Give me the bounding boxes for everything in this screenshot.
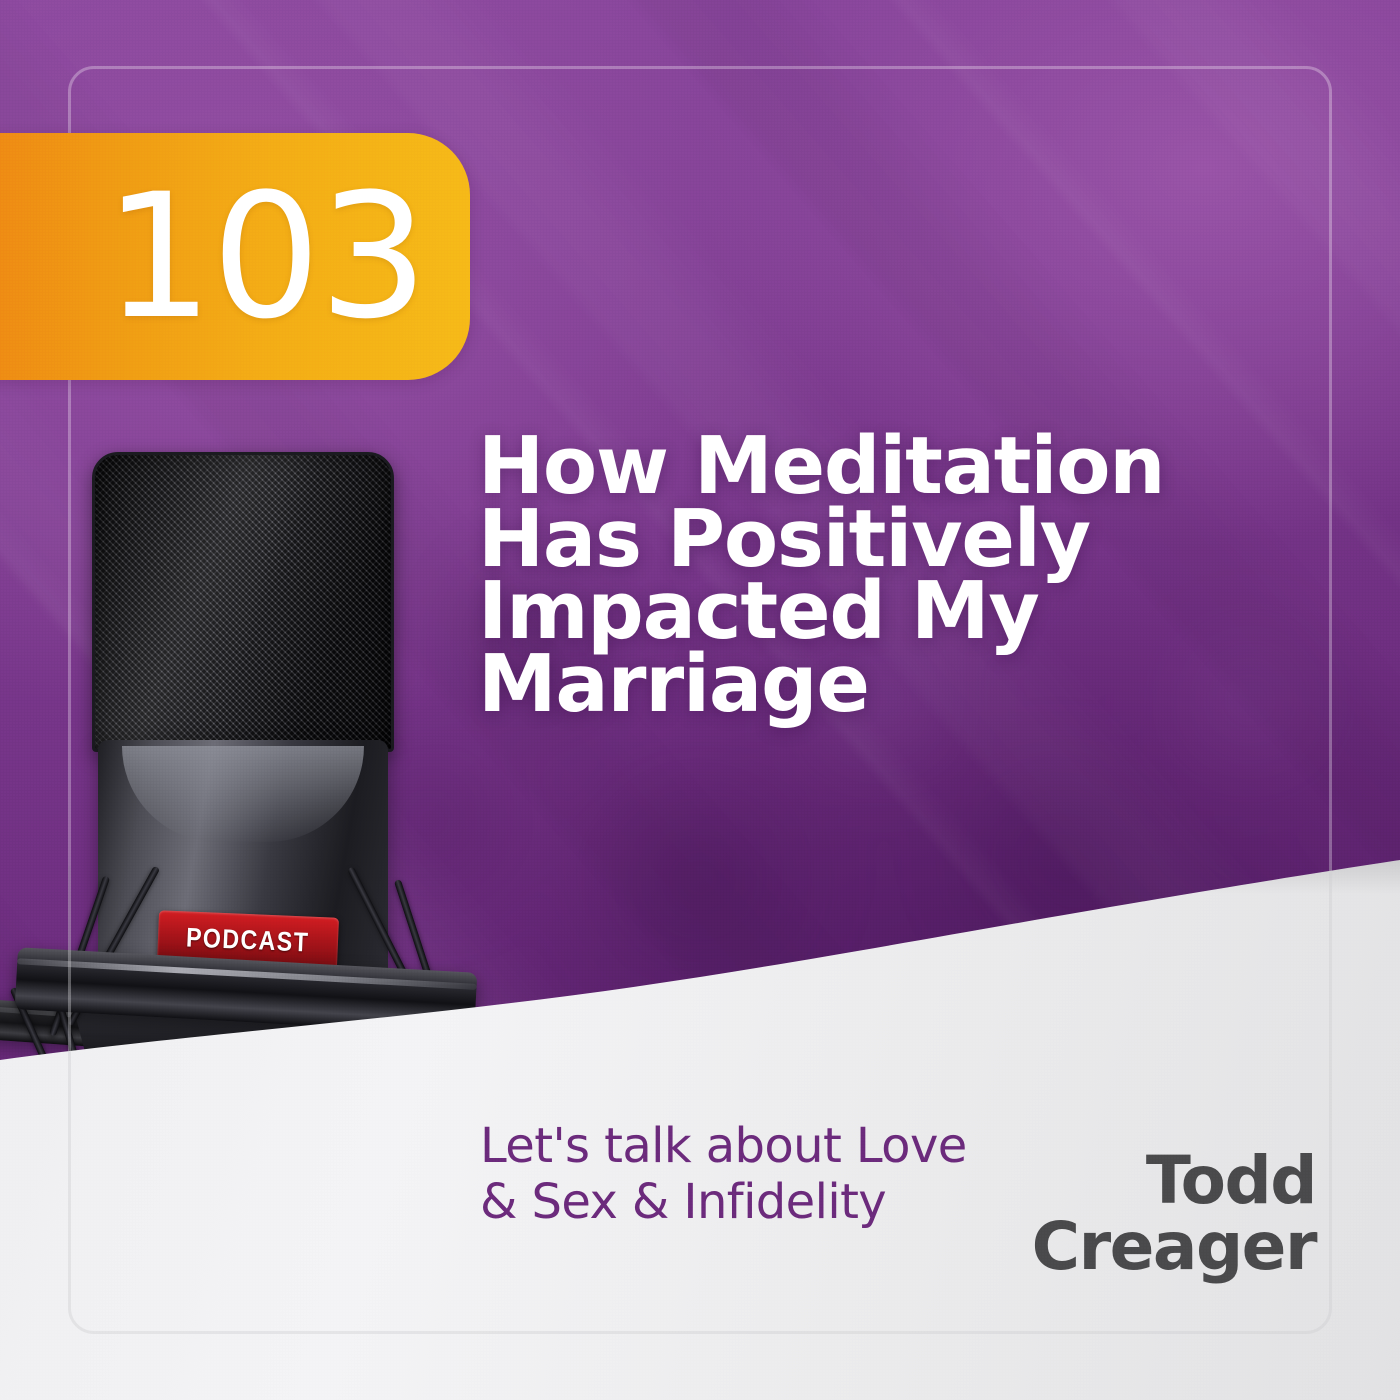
host-name: Todd Creager: [896, 1148, 1316, 1280]
episode-title-line: Marriage: [478, 648, 1298, 721]
microphone-podcast-label: PODCAST: [186, 922, 310, 958]
episode-number-badge: 103: [0, 133, 470, 380]
podcast-cover-art: PODCAST 103 How Meditation Has Positivel…: [0, 0, 1400, 1400]
episode-number: 103: [104, 171, 426, 343]
microphone-body-highlight: [122, 746, 364, 842]
microphone-grille: [92, 452, 394, 752]
shock-mount-band-highlight: [17, 958, 477, 990]
host-last-name: Creager: [896, 1214, 1316, 1280]
episode-title-line: How Meditation: [478, 430, 1298, 503]
microphone-grille-sheen: [95, 455, 391, 749]
episode-title: How Meditation Has Positively Impacted M…: [478, 430, 1298, 721]
host-first-name: Todd: [896, 1148, 1316, 1214]
